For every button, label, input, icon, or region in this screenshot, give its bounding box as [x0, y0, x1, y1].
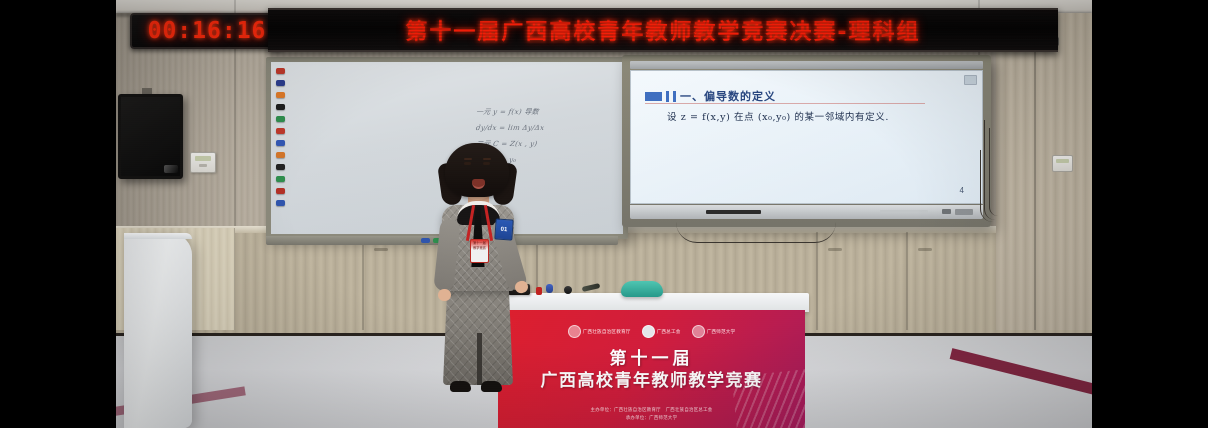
slide-bullet-square-icon — [645, 92, 662, 101]
handwriting-line: dy/dx = lim Δy/Δx — [475, 120, 618, 136]
smartboard-control-button[interactable] — [955, 209, 973, 215]
banner-fine-print: 主办单位：广西壮族自治区教育厅 广西壮族自治区总工会承办单位：广西师范大学 — [498, 406, 805, 422]
whiteboard-magnet[interactable] — [276, 140, 285, 146]
screen-corner-icon — [964, 75, 977, 85]
slide-title: 一、偏导数的定义 — [680, 88, 776, 104]
smartboard-bottom-bezel — [630, 205, 983, 219]
led-banner: 第十一届广西高校青年教师教学竞赛决赛-理科组 — [268, 8, 1058, 52]
organizer-logo-mark-icon — [642, 325, 655, 338]
fine-print-line: 主办单位：广西壮族自治区教育厅 广西壮族自治区总工会 — [498, 406, 805, 414]
cabinet-seam — [906, 232, 908, 330]
plate-slot — [195, 156, 211, 161]
lectern-top — [124, 233, 192, 239]
cabinet-seam — [1034, 13, 1036, 330]
bezel-strip — [880, 210, 928, 213]
organizer-logo-row: 广西壮族自治区教育厅广西总工会广西师范大学 — [498, 325, 805, 338]
organizer-logo-label: 广西师范大学 — [707, 329, 736, 335]
slide-bullet-bar-icon — [666, 91, 669, 102]
slide-title-row: 一、偏导数的定义 — [645, 88, 776, 104]
cabinet-seam — [816, 232, 818, 330]
hand-left — [438, 289, 451, 301]
id-badge-line2: 教学竞赛 — [471, 246, 488, 251]
cabinet-handle[interactable] — [828, 248, 842, 251]
shoe-left — [450, 381, 471, 392]
whiteboard-magnet[interactable] — [276, 164, 285, 170]
podium-banner: 广西壮族自治区教育厅广西总工会广西师范大学 第十一届 广西高校青年教师教学竞赛 … — [498, 310, 805, 428]
black-marker[interactable] — [564, 286, 572, 294]
timer-display: 00:16:16 — [148, 18, 267, 44]
banner-title-line2: 广西高校青年教师教学竞赛 — [498, 366, 805, 391]
hanging-cable — [980, 150, 993, 222]
cabinet-seam — [362, 232, 364, 330]
organizer-logo: 广西师范大学 — [692, 325, 736, 338]
wall-outlet-plate — [190, 152, 216, 173]
plate-slot — [199, 164, 207, 167]
letterbox-right — [1092, 0, 1208, 428]
video-frame-stage: 00:16:16 第十一届广西高校青年教师教学竞赛决赛-理科组 — [0, 0, 1208, 428]
handwriting-line: 一元 y = f(x) 导数 — [475, 104, 618, 120]
cabinet-handle[interactable] — [374, 248, 388, 251]
contestant-number-badge: 01 — [494, 218, 513, 240]
whiteboard-magnet[interactable] — [276, 116, 285, 122]
screen-glare — [164, 165, 178, 173]
smartboard-top-bezel — [630, 61, 983, 69]
organizer-logo-label: 广西壮族自治区教育厅 — [583, 329, 631, 335]
slide-screen: 一、偏导数的定义 设 z = f(x,y) 在点 (x₀,y₀) 的某一邻域内有… — [630, 70, 983, 204]
organizer-logo: 广西总工会 — [642, 325, 681, 338]
whiteboard-magnet[interactable] — [276, 152, 285, 158]
podium: 广西壮族自治区教育厅广西总工会广西师范大学 第十一届 广西高校青年教师教学竞赛 … — [494, 293, 809, 428]
skirt-slit — [477, 333, 482, 385]
wall-switch-plate[interactable] — [1052, 155, 1073, 172]
whiteboard-magnet[interactable] — [276, 200, 285, 206]
switch-indicator — [1056, 159, 1069, 163]
presenter-figure: 第十一届 教学竞赛 01 — [419, 143, 537, 395]
countdown-timer: 00:16:16 — [130, 13, 284, 49]
smartboard-display: 一、偏导数的定义 设 z = f(x,y) 在点 (x₀,y₀) 的某一邻域内有… — [622, 55, 991, 227]
eyebrow-right — [483, 158, 491, 160]
organizer-logo: 广西壮族自治区教育厅 — [568, 325, 631, 338]
shoe-right — [481, 381, 502, 392]
fine-print-line: 承办单位：广西师范大学 — [498, 414, 805, 422]
floor-cable — [676, 222, 836, 243]
id-badge: 第十一届 教学竞赛 — [470, 239, 489, 263]
led-banner-text: 第十一届广西高校青年教师教学竞赛决赛-理科组 — [405, 14, 920, 46]
wall-monitor — [118, 94, 183, 179]
lectern — [124, 233, 192, 428]
whiteboard-magnet[interactable] — [276, 68, 285, 74]
blue-marker[interactable] — [546, 284, 553, 293]
video-content: 00:16:16 第十一届广西高校青年教师教学竞赛决赛-理科组 — [116, 0, 1092, 428]
eye-right — [483, 162, 490, 165]
eyebrow-left — [464, 158, 472, 160]
right-cabinet-column — [996, 13, 1092, 330]
whiteboard-magnet[interactable] — [276, 92, 285, 98]
whiteboard-magnet[interactable] — [276, 188, 285, 194]
whiteboard-magnet[interactable] — [276, 176, 285, 182]
smartboard-power-button[interactable] — [942, 209, 951, 214]
slide-title-rule — [645, 103, 925, 104]
cabinet-handle[interactable] — [918, 248, 932, 251]
slide-body-text: 设 z = f(x,y) 在点 (x₀,y₀) 的某一邻域内有定义. — [667, 109, 889, 123]
letterbox-left — [0, 0, 116, 428]
whiteboard-magnet[interactable] — [276, 128, 285, 134]
whiteboard-magnet[interactable] — [276, 104, 285, 110]
teal-ball-prop[interactable] — [621, 281, 663, 297]
organizer-logo-label: 广西总工会 — [657, 329, 681, 335]
magnet-strip — [275, 68, 286, 218]
slide-bullet-bar-icon — [673, 91, 676, 102]
eye-left — [464, 162, 471, 165]
slide-page-number: 4 — [960, 186, 964, 195]
organizer-logo-mark-icon — [692, 325, 705, 338]
whiteboard-magnet[interactable] — [276, 80, 285, 86]
organizer-logo-mark-icon — [568, 325, 581, 338]
bezel-strip — [706, 210, 761, 214]
